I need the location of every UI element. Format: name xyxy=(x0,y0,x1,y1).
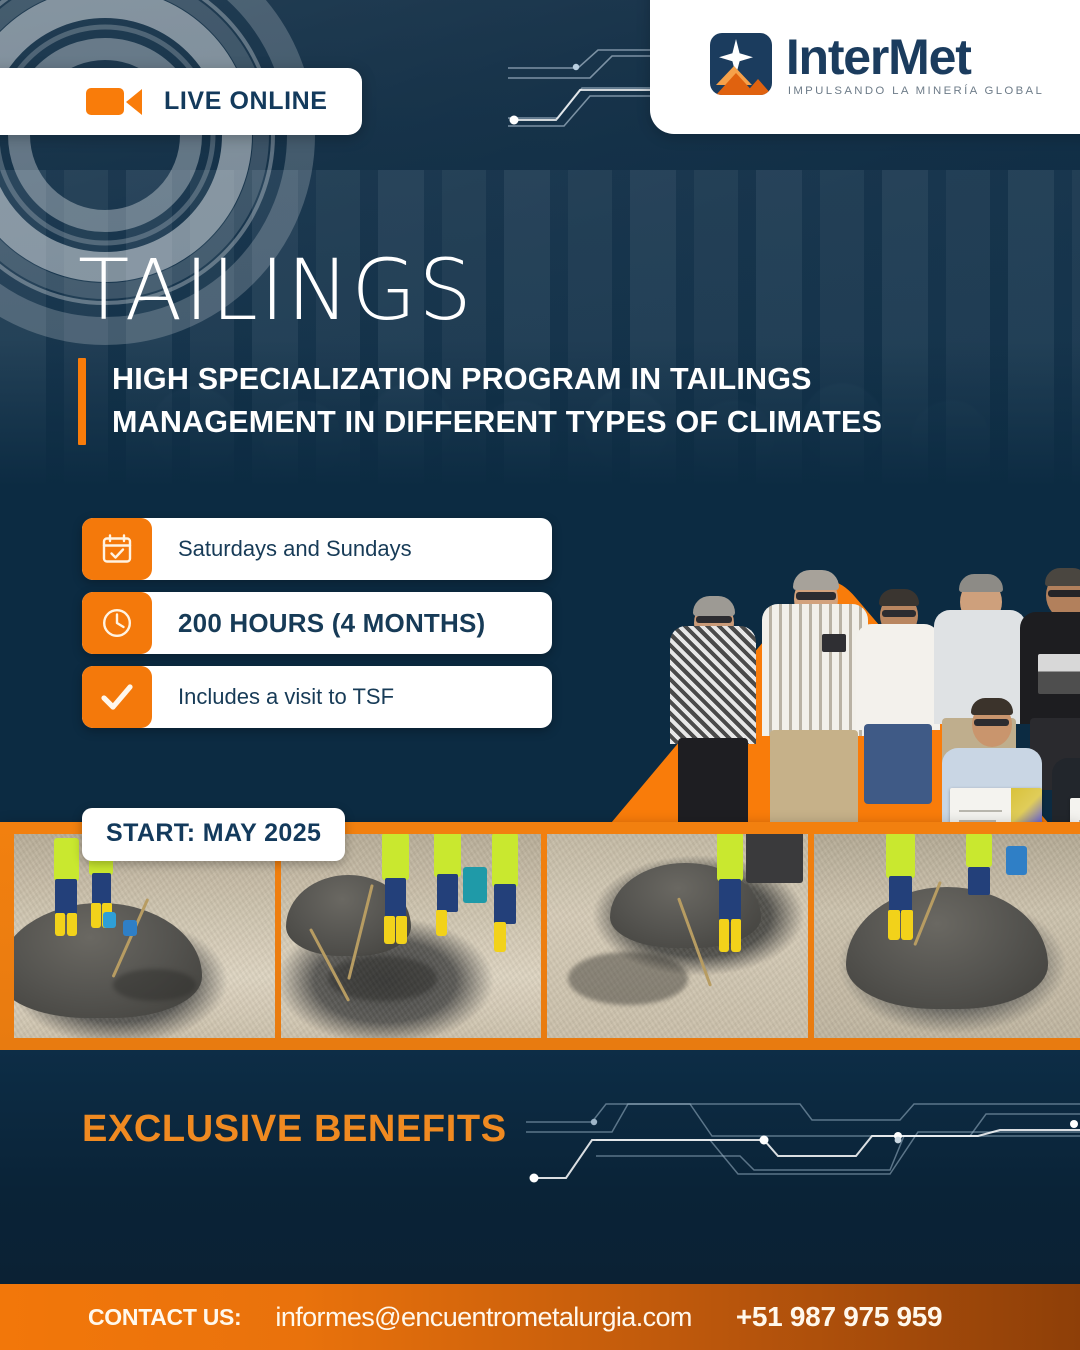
field-worker xyxy=(50,834,81,936)
benefits-title: EXCLUSIVE BENEFITS xyxy=(82,1108,507,1151)
feature-pill-visit[interactable]: Includes a visit to TSF xyxy=(82,666,552,728)
check-icon xyxy=(82,666,152,728)
strip-photo-1 xyxy=(14,834,275,1038)
feature-pill-hours[interactable]: 200 HOURS (4 MONTHS) xyxy=(82,592,552,654)
field-worker xyxy=(432,834,463,936)
field-worker xyxy=(489,834,520,952)
page-title: TAILINGS xyxy=(78,248,474,332)
calendar-check-icon xyxy=(82,518,152,580)
live-online-badge[interactable]: LIVE ONLINE xyxy=(0,68,362,135)
field-worker xyxy=(714,834,745,952)
page-subtitle: HIGH SPECIALIZATION PROGRAM IN TAILINGS … xyxy=(112,358,968,445)
brand-logo-card[interactable]: InterMet IMPULSANDO LA MINERÍA GLOBAL xyxy=(650,0,1080,134)
field-worker xyxy=(883,834,918,940)
four-point-star-mountain-icon xyxy=(710,33,772,95)
photo-strip xyxy=(14,834,1080,1038)
contact-footer: CONTACT US: informes@encuentrometalurgia… xyxy=(0,1284,1080,1350)
group-photo xyxy=(660,548,1080,848)
contact-label: CONTACT US: xyxy=(88,1304,241,1331)
photo-person xyxy=(760,566,870,848)
logo-wordmark: InterMet xyxy=(786,33,1044,82)
field-worker xyxy=(963,834,995,895)
contact-phone[interactable]: +51 987 975 959 xyxy=(736,1301,943,1333)
circuit-lines-decoration-bottom xyxy=(500,1078,1080,1208)
contact-email[interactable]: informes@encuentrometalurgia.com xyxy=(275,1302,691,1333)
strip-photo-2 xyxy=(281,834,542,1038)
subtitle-accent-bar xyxy=(78,358,86,445)
poster-root: LIVE ONLINE InterMet IMPULSANDO LA MINER… xyxy=(0,0,1080,1350)
field-worker xyxy=(380,834,411,944)
subtitle-block: HIGH SPECIALIZATION PROGRAM IN TAILINGS … xyxy=(78,358,968,445)
video-camera-icon xyxy=(86,88,142,115)
feature-pill-schedule[interactable]: Saturdays and Sundays xyxy=(82,518,552,580)
circuit-lines-decoration-top xyxy=(430,0,680,200)
strip-photo-3 xyxy=(547,834,808,1038)
clock-icon xyxy=(82,592,152,654)
feature-pill-list: Saturdays and Sundays 200 HOURS (4 MONTH… xyxy=(82,518,552,728)
start-date-badge: START: MAY 2025 xyxy=(82,808,345,861)
strip-photo-4 xyxy=(814,834,1080,1038)
live-online-label: LIVE ONLINE xyxy=(164,87,328,116)
photo-person xyxy=(856,586,940,804)
photo-person xyxy=(666,590,758,848)
logo-tagline: IMPULSANDO LA MINERÍA GLOBAL xyxy=(786,85,1044,97)
